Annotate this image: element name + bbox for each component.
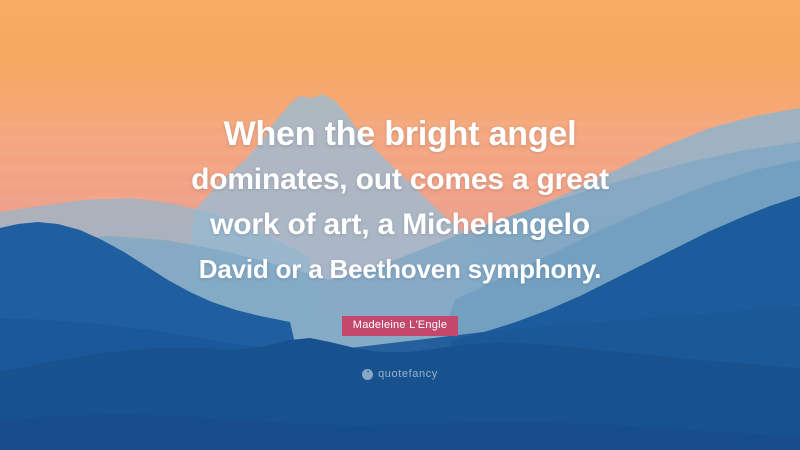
author-name-badge[interactable]: Madeleine L'Engle [342, 316, 458, 336]
watermark[interactable]: “ quotefancy [0, 368, 800, 380]
quote-line-3: work of art, a Michelangelo [60, 202, 740, 247]
quote-line-2: dominates, out comes a great [60, 157, 740, 202]
quote-mark-glyph: “ [366, 371, 369, 377]
watermark-brand-label: quotefancy [378, 368, 438, 380]
quotefancy-logo-icon: “ [362, 369, 373, 380]
quote-poster: When the bright angel dominates, out com… [0, 0, 800, 450]
author-attribution: Madeleine L'Engle [0, 315, 800, 336]
quote-line-1: When the bright angel [60, 112, 740, 157]
quote-line-4: David or a Beethoven symphony. [60, 247, 740, 291]
quote-text-block: When the bright angel dominates, out com… [0, 112, 800, 291]
